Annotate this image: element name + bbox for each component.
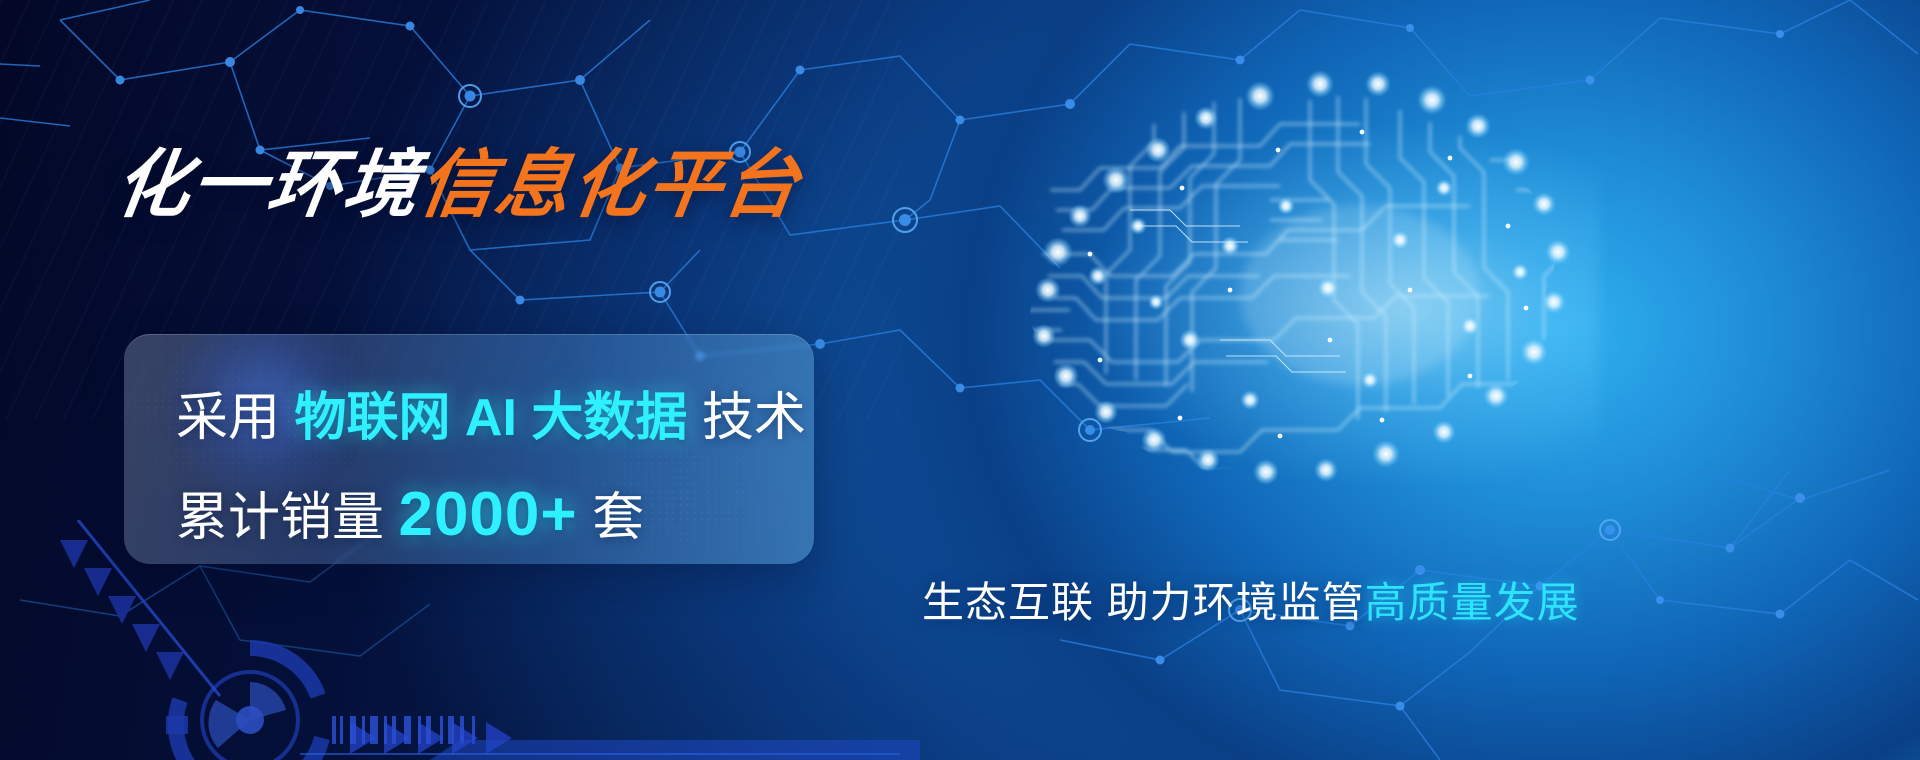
title-white-part: 化一环境 — [110, 143, 426, 226]
feature-line-technology: 采用 物联网 AI 大数据 技术 — [176, 392, 806, 444]
angular-bar-decoration — [300, 740, 920, 760]
tagline: 生态互联 助力环境监管高质量发展 — [922, 582, 1580, 624]
sales-count: 2000+ — [398, 480, 577, 549]
line1-prefix: 采用 — [176, 389, 280, 447]
tagline-white-part: 生态互联 助力环境监管 — [922, 579, 1365, 626]
feature-line-sales: 累计销量 2000+ 套 — [176, 484, 644, 546]
page-title: 化一环境信息化平台 — [111, 148, 805, 222]
triangle-arrow-row-decoration — [350, 716, 550, 760]
brain-glow — [1080, 120, 1600, 480]
line1-suffix: 技术 — [702, 389, 806, 447]
radar-dial-decoration — [160, 630, 340, 760]
promo-banner: 化一环境信息化平台 采用 物联网 AI 大数据 技术 累计销量 2000+ 套 … — [0, 0, 1920, 760]
barcode-bars-decoration — [332, 716, 522, 744]
line1-highlight: 物联网 AI 大数据 — [294, 389, 687, 447]
title-orange-part: 信息化平台 — [414, 143, 806, 226]
tagline-cyan-part: 高质量发展 — [1365, 579, 1580, 626]
line2-suffix: 套 — [592, 489, 644, 547]
circuit-brain-illustration — [930, 40, 1630, 510]
line2-prefix: 累计销量 — [176, 489, 384, 547]
